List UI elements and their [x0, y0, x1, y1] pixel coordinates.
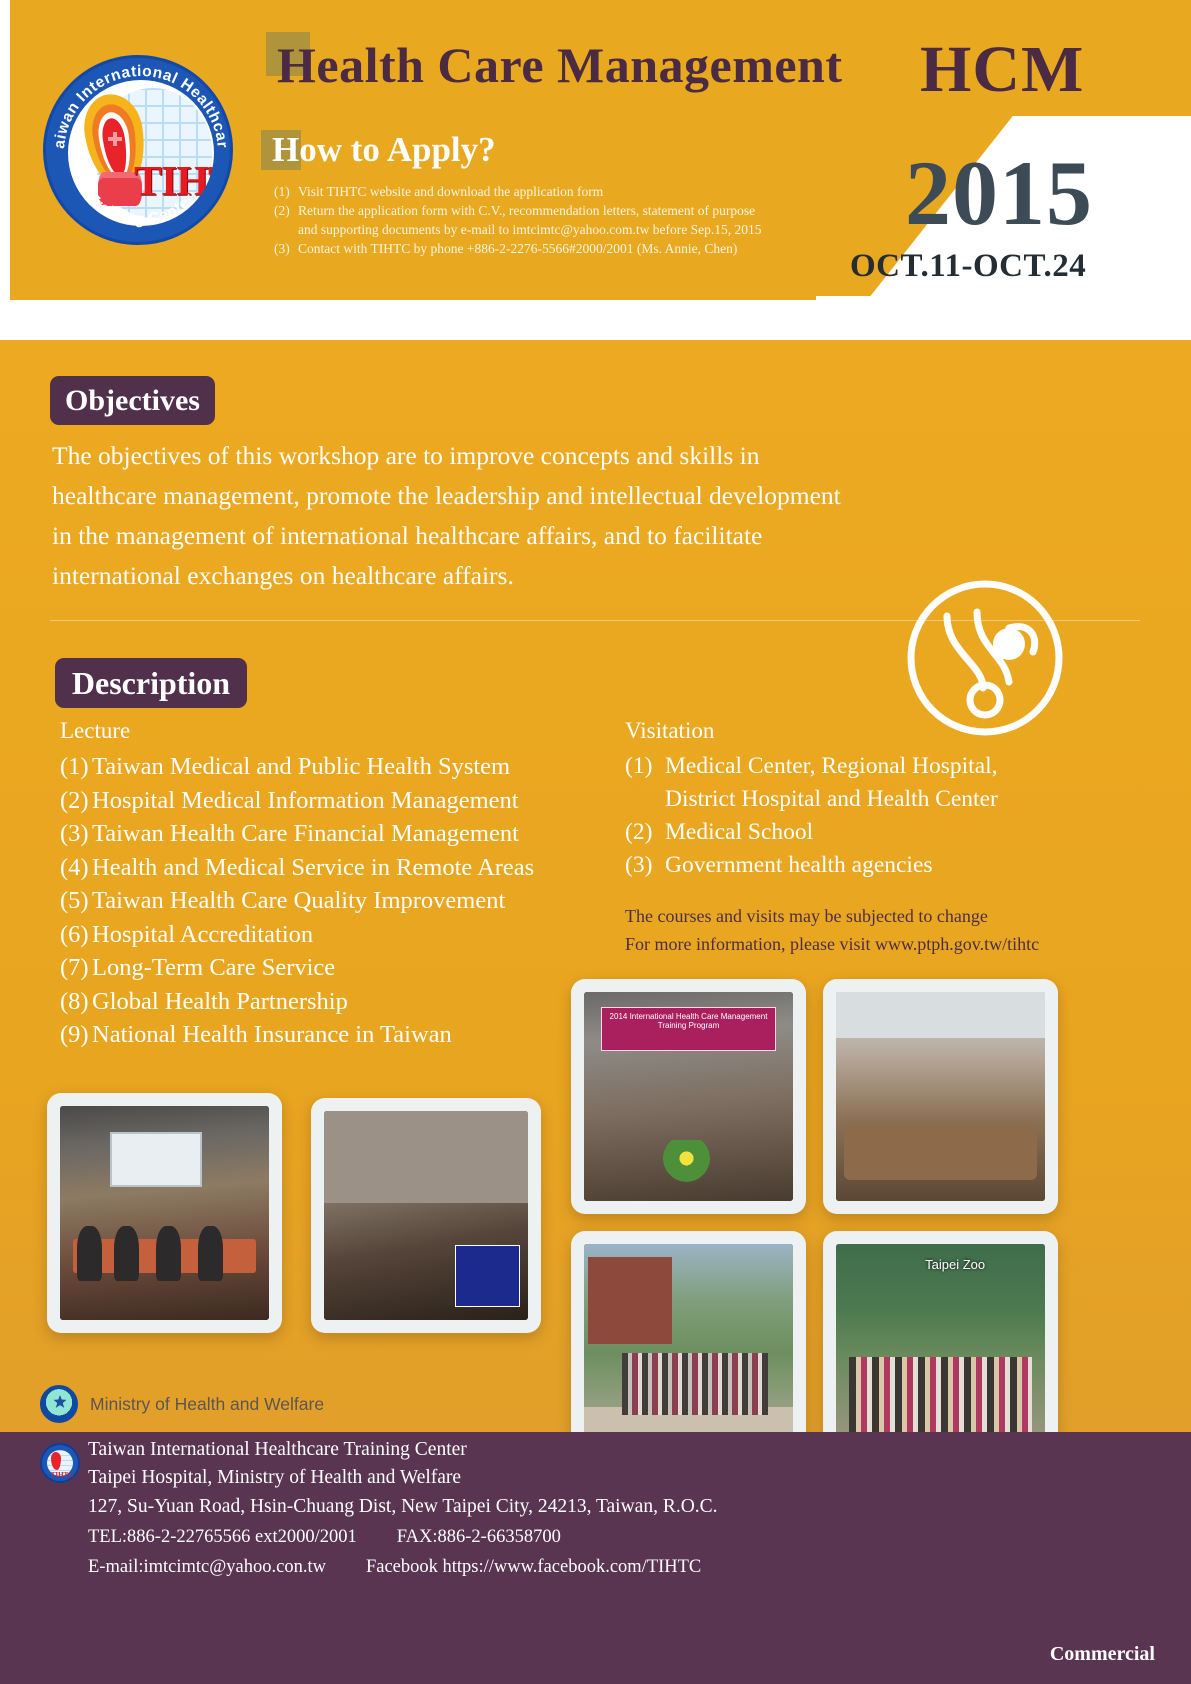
lecture-item-number: (3)	[60, 817, 92, 851]
lecture-item: (9)National Health Insurance in Taiwan	[60, 1018, 605, 1052]
footer-org-name: Taiwan International Healthcare Training…	[88, 1436, 988, 1464]
poster-header: TIHTC Taiwan International Healthcare Tr…	[0, 0, 1191, 308]
group-of-people	[849, 1357, 1033, 1441]
photo-content	[60, 1106, 269, 1320]
photo-classroom-presentation	[47, 1093, 282, 1333]
visitation-note-line-1: The courses and visits may be subjected …	[625, 902, 1080, 930]
lecture-item: (8)Global Health Partnership	[60, 985, 605, 1019]
visitation-item: (2)Medical School	[625, 816, 1080, 849]
ministry-label: Ministry of Health and Welfare	[90, 1394, 324, 1415]
room-wall	[324, 1111, 528, 1203]
ministry-row: Ministry of Health and Welfare	[40, 1385, 324, 1423]
apply-step-number: (2)	[274, 201, 298, 220]
lecture-item: (6)Hospital Accreditation	[60, 918, 605, 952]
photo-taipei-zoo-group: Taipei Zoo	[823, 1231, 1058, 1466]
event-banner: 2014 International Health Care Managemen…	[601, 1007, 777, 1051]
photo-image: 2014 International Health Care Managemen…	[584, 992, 793, 1201]
svg-text:Taiwan International Healthcar: Taiwan International Healthcare	[46, 58, 231, 149]
objectives-line: The objectives of this workshop are to i…	[52, 436, 1007, 476]
lecture-item: (4)Health and Medical Service in Remote …	[60, 851, 605, 885]
person-silhouette	[114, 1226, 139, 1282]
poster-root: TIHTC Taiwan International Healthcare Tr…	[0, 0, 1191, 1684]
apply-step-number: (3)	[274, 239, 298, 258]
page-title: Health Care Management	[277, 36, 843, 94]
lecture-item-number: (8)	[60, 985, 92, 1019]
visitation-note-line-2: For more information, please visit www.p…	[625, 930, 1080, 958]
photo-image	[60, 1106, 269, 1320]
visitation-item-label: Government health agencies	[665, 849, 933, 882]
visitation-item-label: Medical School	[665, 816, 813, 849]
person-silhouette	[156, 1226, 181, 1282]
lecture-item-label: Global Health Partnership	[92, 985, 348, 1019]
apply-step: (3) Contact with TIHTC by phone +886-2-2…	[274, 239, 834, 258]
footer-email[interactable]: E-mail:imtcimtc@yahoo.con.tw	[88, 1557, 326, 1577]
objectives-line: in the management of international healt…	[52, 516, 1007, 556]
projector-screen	[110, 1132, 202, 1188]
footer-facebook[interactable]: Facebook https://www.facebook.com/TIHTC	[366, 1557, 701, 1577]
tihtc-logo: TIHTC Taiwan International Healthcare Tr…	[43, 55, 233, 245]
lecture-item-number: (6)	[60, 918, 92, 952]
visitation-item-number: (3)	[625, 849, 665, 882]
lecture-item: (2)Hospital Medical Information Manageme…	[60, 784, 605, 818]
footer-logo-flame	[51, 1452, 61, 1470]
visitation-item-number: (2)	[625, 816, 665, 849]
lecture-item-number: (9)	[60, 1018, 92, 1052]
apply-step: (1) Visit TIHTC website and download the…	[274, 182, 834, 201]
lecture-item-number: (4)	[60, 851, 92, 885]
footer-logo-acronym: TIHTC	[46, 1471, 78, 1479]
footer-contact-block: Taiwan International Healthcare Training…	[88, 1436, 988, 1582]
header-left-white-strip	[0, 0, 10, 308]
photo-image: Taipei Zoo	[836, 1244, 1045, 1453]
flower-arrangement	[659, 1140, 713, 1186]
footer-phone-row: TEL:886-2-22765566 ext2000/2001FAX:886-2…	[88, 1522, 988, 1552]
visitation-item: (3)Government health agencies	[625, 849, 1080, 882]
lecture-heading: Lecture	[60, 718, 605, 744]
person-silhouette	[198, 1226, 223, 1282]
photo-image	[584, 1244, 793, 1453]
apply-step-text: Visit TIHTC website and download the app…	[298, 182, 603, 201]
lecture-item: (7)Long-Term Care Service	[60, 951, 605, 985]
lecture-item-label: Health and Medical Service in Remote Are…	[92, 851, 534, 885]
visitation-note: The courses and visits may be subjected …	[625, 902, 1080, 958]
room-ceiling	[836, 992, 1045, 1038]
lecture-item: (3)Taiwan Health Care Financial Manageme…	[60, 817, 605, 851]
photo-content	[324, 1111, 528, 1320]
visitation-item-label: Medical Center, Regional Hospital,	[665, 750, 998, 783]
objectives-tag: Objectives	[50, 376, 215, 425]
conference-table	[844, 1126, 1036, 1180]
photo-training-program-group: 2014 International Health Care Managemen…	[571, 979, 806, 1214]
objectives-line: international exchanges on healthcare af…	[52, 556, 1007, 596]
description-tag: Description	[55, 658, 247, 708]
stethoscope-icon	[905, 578, 1065, 738]
person-silhouette	[77, 1226, 102, 1282]
photo-content: 2014 International Health Care Managemen…	[584, 992, 793, 1201]
lecture-item-label: Long-Term Care Service	[92, 951, 335, 985]
how-to-apply-heading: How to Apply?	[272, 130, 496, 170]
commercial-label: Commercial	[1050, 1643, 1155, 1666]
footer-online-row: E-mail:imtcimtc@yahoo.con.twFacebook htt…	[88, 1552, 988, 1582]
photo-conference-room-session	[823, 979, 1058, 1214]
lecture-item-label: Taiwan Health Care Financial Management	[92, 817, 519, 851]
footer-address: 127, Su-Yuan Road, Hsin-Chuang Dist, New…	[88, 1492, 988, 1522]
lecture-item-label: Taiwan Health Care Quality Improvement	[92, 884, 505, 918]
ministry-logo-icon	[40, 1385, 78, 1423]
objectives-line: healthcare management, promote the leade…	[52, 476, 1007, 516]
how-to-apply-list: (1) Visit TIHTC website and download the…	[274, 182, 834, 258]
photo-content	[836, 992, 1045, 1201]
apply-step-text: Return the application form with C.V., r…	[298, 201, 755, 220]
zoo-sign-caption: Taipei Zoo	[882, 1257, 1028, 1290]
photo-image	[836, 992, 1045, 1201]
footer-fax: FAX:886-2-66358700	[397, 1527, 561, 1547]
group-of-people	[622, 1353, 768, 1416]
lecture-item-number: (1)	[60, 750, 92, 784]
apply-step-number: (1)	[274, 182, 298, 201]
presentation-slide	[455, 1245, 520, 1308]
svg-text:Training Center: Training Center	[84, 190, 198, 228]
lecture-item-number: (2)	[60, 784, 92, 818]
program-date-range: OCT.11-OCT.24	[850, 248, 1086, 285]
lecture-item-number: (5)	[60, 884, 92, 918]
apply-step-continuation: and supporting documents by e-mail to im…	[298, 220, 834, 239]
header-white-band-wedge	[816, 296, 1191, 342]
tihtc-logo-arc-text: Taiwan International Healthcare Training…	[46, 58, 236, 248]
lecture-item-label: Hospital Medical Information Management	[92, 784, 519, 818]
lecture-item-label: National Health Insurance in Taiwan	[92, 1018, 452, 1052]
objectives-paragraph: The objectives of this workshop are to i…	[52, 436, 1007, 596]
brick-building	[588, 1257, 672, 1345]
visitation-item: (1)Medical Center, Regional Hospital,	[625, 750, 1080, 783]
photo-group-discussion-room	[311, 1098, 541, 1333]
lecture-item: (5)Taiwan Health Care Quality Improvemen…	[60, 884, 605, 918]
visitation-item-subline: District Hospital and Health Center	[665, 783, 1080, 816]
program-year: 2015	[905, 140, 1093, 246]
apply-step-text: Contact with TIHTC by phone +886-2-2276-…	[298, 239, 737, 258]
footer-org-sub: Taipei Hospital, Ministry of Health and …	[88, 1464, 988, 1492]
footer-tihtc-logo: TIHTC	[40, 1443, 80, 1483]
photo-content	[584, 1244, 793, 1453]
lecture-column: Lecture (1)Taiwan Medical and Public Hea…	[60, 718, 605, 1052]
lecture-item-label: Hospital Accreditation	[92, 918, 313, 952]
apply-step: (2) Return the application form with C.V…	[274, 201, 834, 220]
photo-outdoor-campus-group	[571, 1231, 806, 1466]
visitation-item-number: (1)	[625, 750, 665, 783]
photo-content: Taipei Zoo	[836, 1244, 1045, 1453]
lecture-item: (1)Taiwan Medical and Public Health Syst…	[60, 750, 605, 784]
lecture-item-label: Taiwan Medical and Public Health System	[92, 750, 510, 784]
footer-tel: TEL:886-2-22765566 ext2000/2001	[88, 1527, 357, 1547]
visitation-heading: Visitation	[625, 718, 1080, 744]
event-banner-caption: 2014 International Health Care Managemen…	[602, 1012, 776, 1030]
program-acronym: HCM	[920, 32, 1084, 108]
lecture-item-number: (7)	[60, 951, 92, 985]
photo-image	[324, 1111, 528, 1320]
visitation-column: Visitation (1)Medical Center, Regional H…	[625, 718, 1080, 958]
